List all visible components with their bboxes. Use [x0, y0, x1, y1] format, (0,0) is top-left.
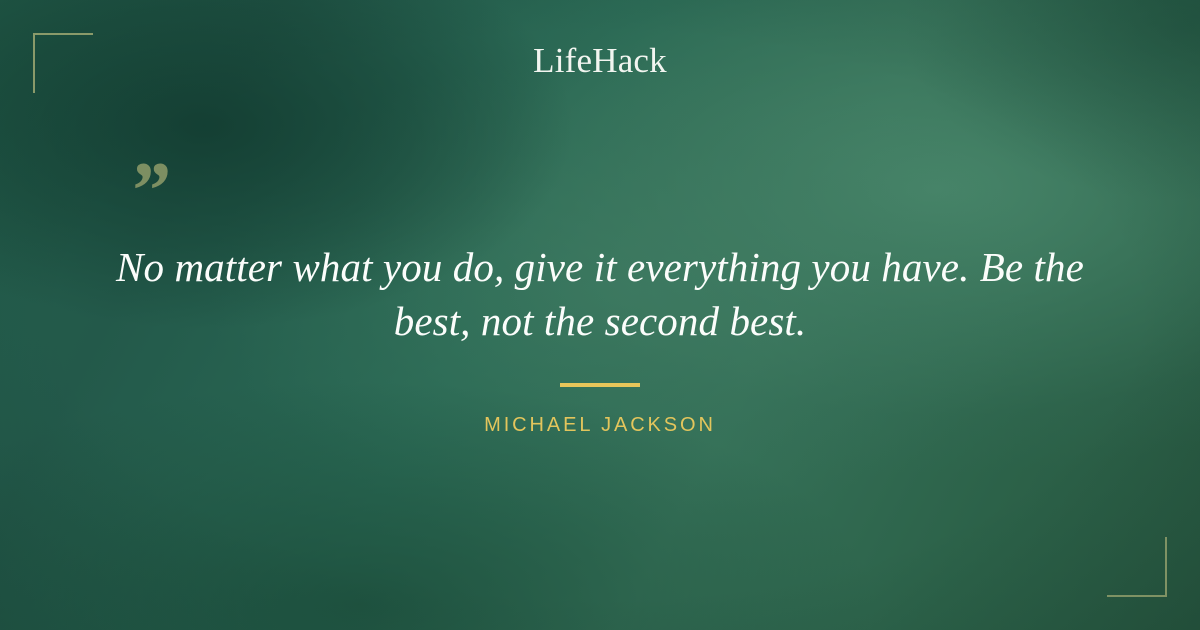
quote-card: LifeHack ” No matter what you do, give i…	[0, 0, 1200, 630]
quote-author: MICHAEL JACKSON	[100, 412, 1100, 438]
quote-text: No matter what you do, give it everythin…	[100, 240, 1100, 348]
brand-logo: LifeHack	[0, 40, 1200, 82]
quotation-mark-icon: ”	[128, 150, 169, 232]
divider-rule	[560, 383, 640, 387]
corner-bracket-bottom-right-icon	[1107, 537, 1167, 597]
